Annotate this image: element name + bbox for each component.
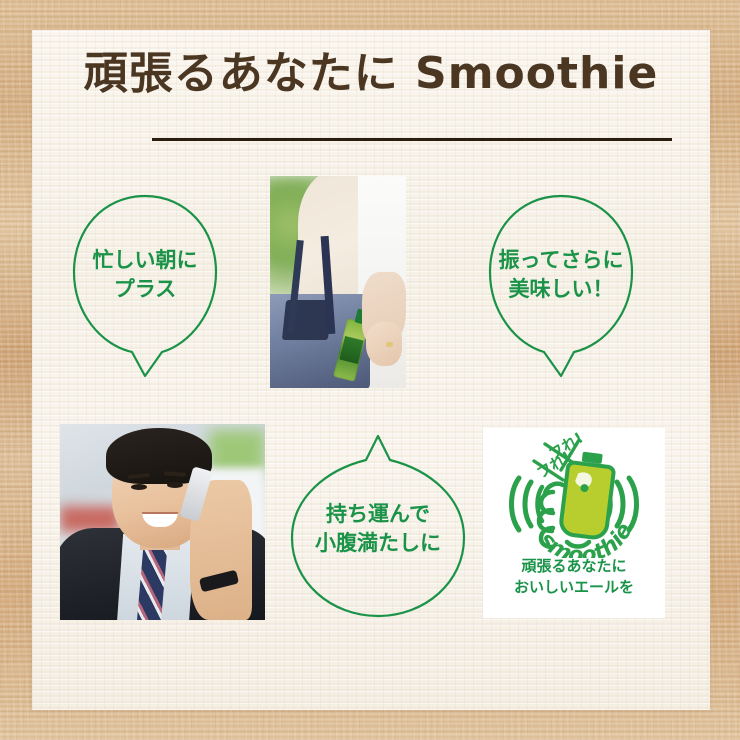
bubble-shake-line2: 美味しい！: [486, 275, 636, 304]
smoothie-logo-mark: フれ! フれ! smoothie: [483, 430, 665, 558]
logo-caption: 頑張るあなたに おいしいエールを: [483, 556, 665, 599]
bubble-carry-line1: 持ち運んで: [288, 500, 468, 529]
bubble-morning-text: 忙しい朝に プラス: [70, 246, 220, 304]
photo-woman-bag: [270, 176, 406, 388]
bubble-morning-line1: 忙しい朝に: [70, 246, 220, 275]
logo-caption-line1: 頑張るあなたに: [483, 556, 665, 577]
photo-eye-left: [131, 484, 147, 490]
page-title: 頑張るあなたに Smoothie: [32, 50, 710, 98]
bubble-shake-text: 振ってさらに 美味しい！: [486, 246, 636, 304]
bubble-shake: 振ってさらに 美味しい！: [486, 192, 636, 380]
poster-root: 頑張るあなたに Smoothie 忙しい朝に プラス: [0, 0, 740, 740]
photo-ring: [386, 342, 393, 347]
bubble-morning: 忙しい朝に プラス: [70, 192, 220, 380]
bubble-carry: 持ち運んで 小腹満たしに: [288, 432, 468, 620]
title-block: 頑張るあなたに Smoothie: [32, 50, 710, 98]
logo-caption-line2: おいしいエールを: [483, 577, 665, 598]
photo-eye-right: [167, 482, 183, 488]
photo-hand: [366, 322, 402, 366]
title-underline: [152, 138, 672, 141]
bubble-morning-line2: プラス: [70, 275, 220, 304]
bubble-carry-line2: 小腹満たしに: [288, 529, 468, 558]
bubble-carry-text: 持ち運んで 小腹満たしに: [288, 500, 468, 558]
logo-bottle: [560, 450, 616, 539]
smoothie-logo-card: フれ! フれ! smoothie: [483, 428, 665, 618]
bubble-shake-line1: 振ってさらに: [486, 246, 636, 275]
photo-businessman-phone: [60, 424, 265, 620]
